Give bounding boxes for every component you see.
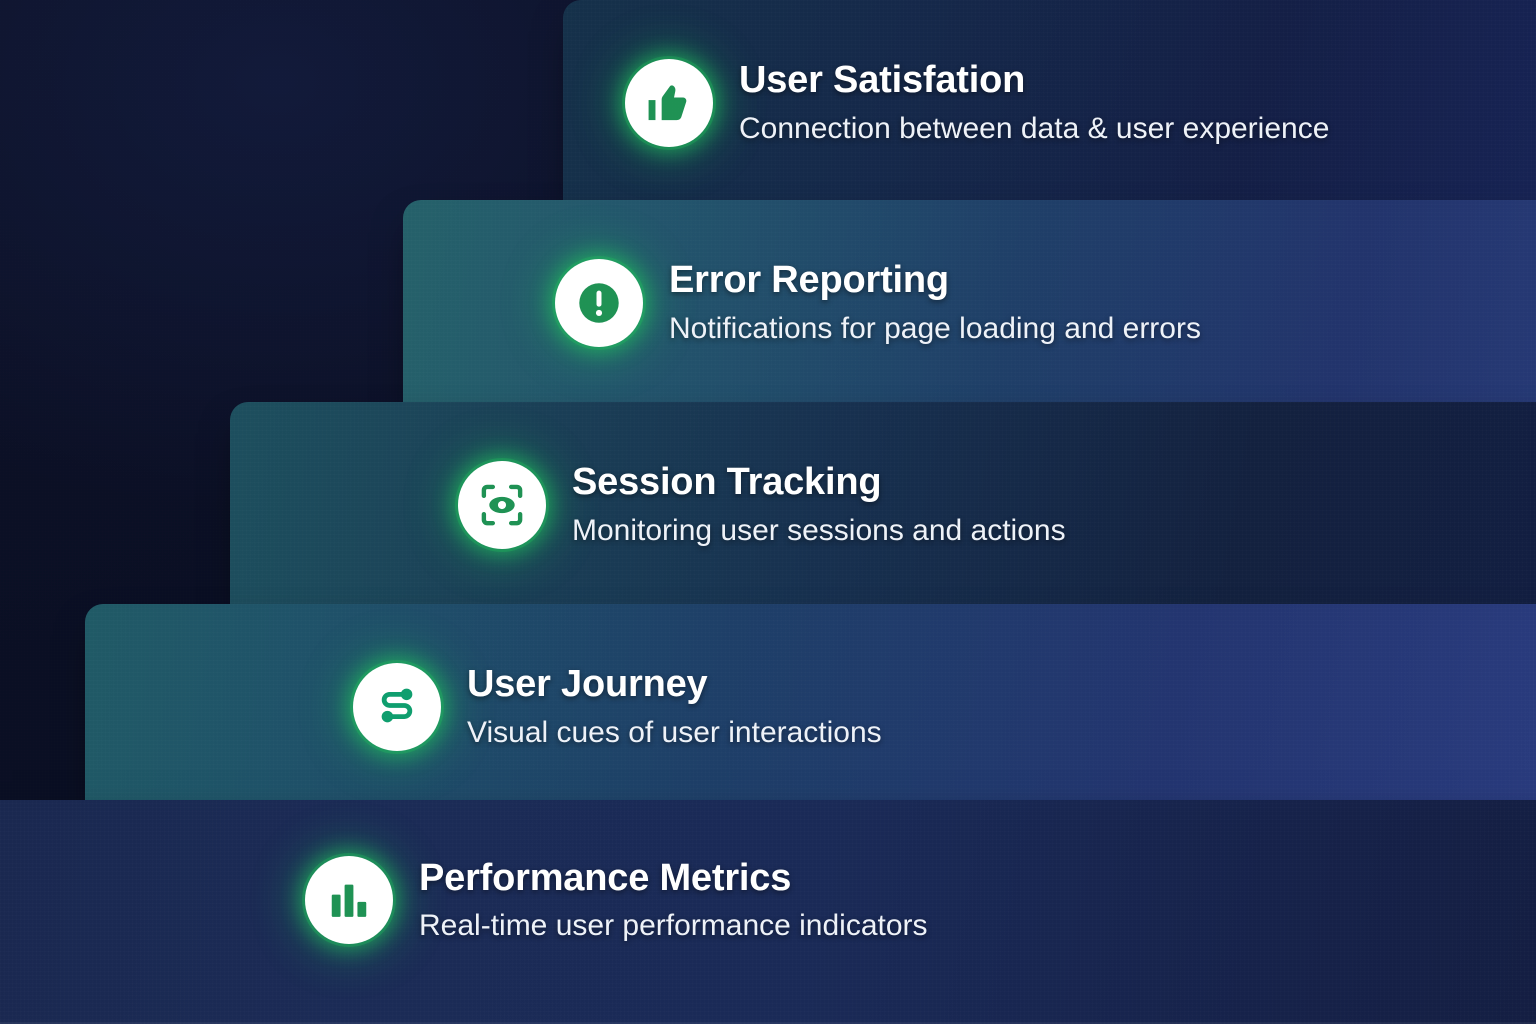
feature-staircase-stage: User Satisfation Connection between data… xyxy=(0,0,1536,1024)
card-text-block: User Satisfation Connection between data… xyxy=(739,59,1329,146)
eye-scan-icon xyxy=(458,461,546,549)
feature-card-performance-metrics[interactable]: Performance Metrics Real-time user perfo… xyxy=(0,800,1536,1024)
alert-circle-icon xyxy=(555,259,643,347)
card-title: User Satisfation xyxy=(739,59,1329,102)
card-title: Error Reporting xyxy=(669,259,1201,302)
feature-card-user-journey[interactable]: User Journey Visual cues of user interac… xyxy=(85,604,1536,809)
card-title: Performance Metrics xyxy=(419,857,928,900)
card-row-inner: User Journey Visual cues of user interac… xyxy=(85,604,1536,809)
feature-card-error-reporting[interactable]: Error Reporting Notifications for page l… xyxy=(403,200,1536,405)
card-row-inner: Error Reporting Notifications for page l… xyxy=(403,200,1536,405)
card-title: Session Tracking xyxy=(572,461,1066,504)
card-description: Real-time user performance indicators xyxy=(419,908,928,943)
card-text-block: Performance Metrics Real-time user perfo… xyxy=(419,857,928,944)
card-text-block: Session Tracking Monitoring user session… xyxy=(572,461,1066,548)
route-path-icon xyxy=(353,663,441,751)
bar-chart-icon xyxy=(305,856,393,944)
feature-card-session-tracking[interactable]: Session Tracking Monitoring user session… xyxy=(230,402,1536,607)
card-description: Monitoring user sessions and actions xyxy=(572,513,1066,548)
card-row-inner: User Satisfation Connection between data… xyxy=(563,0,1536,205)
card-text-block: Error Reporting Notifications for page l… xyxy=(669,259,1201,346)
card-text-block: User Journey Visual cues of user interac… xyxy=(467,663,882,750)
feature-card-user-satisfation[interactable]: User Satisfation Connection between data… xyxy=(563,0,1536,205)
card-description: Notifications for page loading and error… xyxy=(669,311,1201,346)
card-row-inner: Performance Metrics Real-time user perfo… xyxy=(0,800,1536,1024)
card-description: Visual cues of user interactions xyxy=(467,715,882,750)
card-row-inner: Session Tracking Monitoring user session… xyxy=(230,402,1536,607)
card-title: User Journey xyxy=(467,663,882,706)
card-description: Connection between data & user experienc… xyxy=(739,111,1329,146)
thumbs-up-icon xyxy=(625,59,713,147)
